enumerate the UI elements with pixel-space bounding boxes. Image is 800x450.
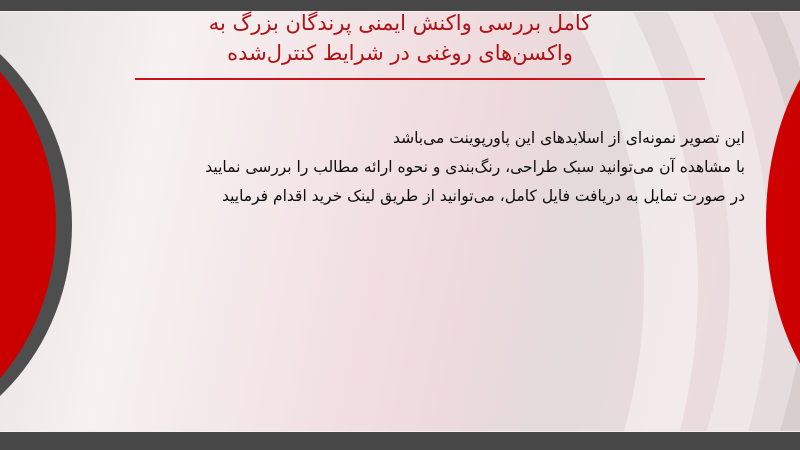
- presentation-slide: کامل بررسی واکنش ایمنی پرندگان بزرگ به و…: [0, 0, 800, 450]
- body-line-1: این تصویر نمونه‌ای از اسلایدهای این پاور…: [100, 124, 745, 153]
- slide-body: این تصویر نمونه‌ای از اسلایدهای این پاور…: [100, 124, 745, 211]
- slide-title: کامل بررسی واکنش ایمنی پرندگان بزرگ به و…: [95, 8, 705, 68]
- title-line-1: کامل بررسی واکنش ایمنی پرندگان بزرگ به: [95, 8, 705, 38]
- body-line-3: در صورت تمایل به دریافت فایل کامل، می‌تو…: [100, 182, 745, 211]
- title-line-2: واکسن‌های روغنی در شرایط کنترل‌شده: [95, 38, 705, 68]
- body-line-2: با مشاهده آن می‌توانید سبک طراحی، رنگ‌بن…: [100, 153, 745, 182]
- slide-content: کامل بررسی واکنش ایمنی پرندگان بزرگ به و…: [0, 0, 800, 450]
- title-underline-rule: [135, 78, 705, 80]
